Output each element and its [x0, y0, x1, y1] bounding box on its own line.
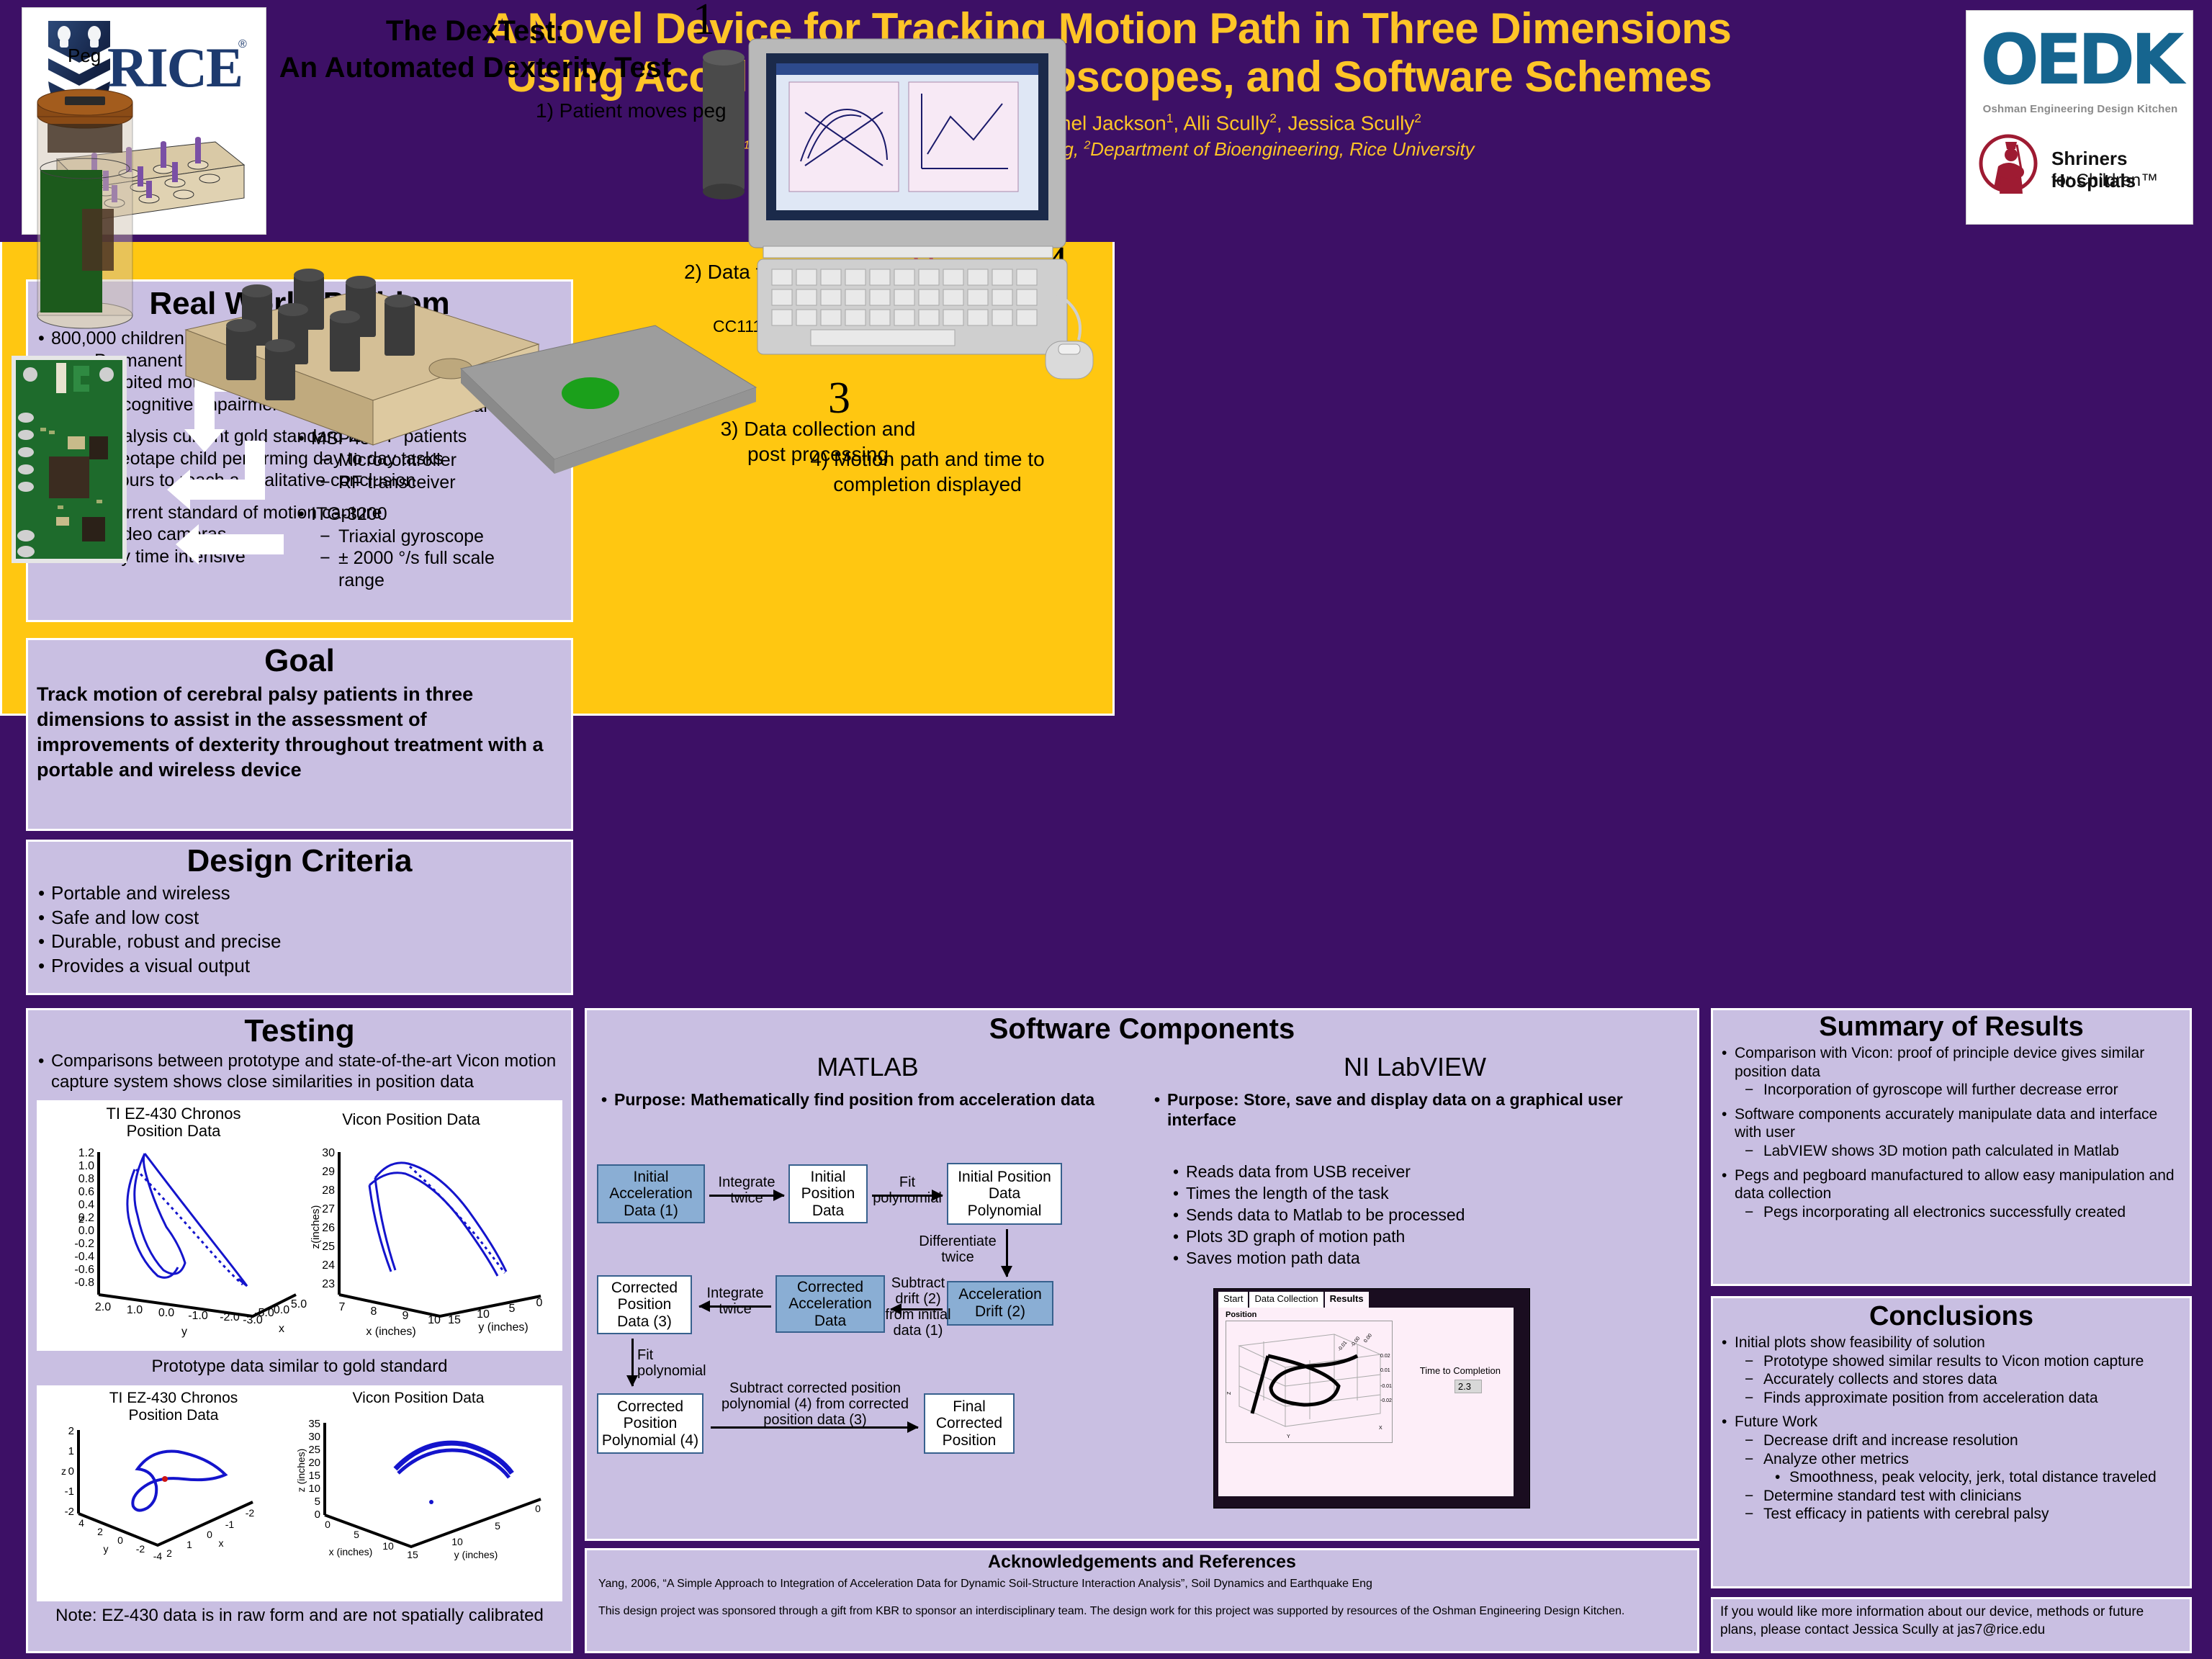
- flow-box-acceleration-drift: Acceleration Drift (2): [947, 1281, 1053, 1326]
- svg-text:x: x: [279, 1323, 284, 1335]
- contact-text: If you would like more information about…: [1713, 1599, 2190, 1639]
- svg-text:x (inches): x (inches): [366, 1326, 415, 1338]
- list-item: Prototype showed similar results to Vico…: [1742, 1352, 2184, 1371]
- dextest-title: The DexTest: An Automated Dexterity Test: [238, 13, 713, 86]
- section-title-software: Software Components: [587, 1010, 1697, 1046]
- svg-text:1.0: 1.0: [127, 1304, 143, 1316]
- list-item: Plots 3D graph of motion path: [1169, 1226, 1673, 1246]
- svg-text:-5.0: -5.0: [254, 1307, 274, 1319]
- panel-acknowledgements: Acknowledgements and References Yang, 20…: [585, 1548, 1699, 1653]
- svg-text:28: 28: [322, 1184, 335, 1197]
- flow-box-final-corrected-position: Final Corrected Position: [924, 1393, 1015, 1454]
- oedk-subtitle: Oshman Engineering Design Kitchen: [1966, 103, 2193, 115]
- acknowledgements-reference: Yang, 2006, “A Simple Approach to Integr…: [587, 1573, 1697, 1591]
- svg-text:-1.0: -1.0: [188, 1310, 208, 1322]
- acknowledgements-funding: This design project was sponsored throug…: [587, 1591, 1697, 1619]
- svg-text:0.01: 0.01: [1380, 1368, 1390, 1373]
- svg-text:4: 4: [78, 1517, 84, 1529]
- svg-text:0: 0: [315, 1509, 320, 1521]
- list-item: Pegs and pegboard manufactured to allow …: [1717, 1166, 2184, 1222]
- list-item: Initial plots show feasibility of soluti…: [1717, 1334, 2184, 1407]
- section-title-goal: Goal: [28, 640, 571, 679]
- chart-title-1: TI EZ-430 Chronos: [106, 1105, 240, 1123]
- flow-label-integrate-2: Integrate twice: [695, 1285, 775, 1317]
- svg-text:2: 2: [166, 1547, 172, 1559]
- list-item: Pegs incorporating all electronics succe…: [1742, 1203, 2184, 1222]
- svg-text:-0.4: -0.4: [74, 1251, 94, 1263]
- mousepad-illustration: [454, 318, 763, 484]
- labview-screenshot: Start Data Collection Results Position: [1213, 1288, 1530, 1509]
- svg-text:TI EZ-430 Chronos: TI EZ-430 Chronos: [109, 1390, 238, 1406]
- svg-text:-2: -2: [246, 1507, 255, 1519]
- list-item: Sends data to Matlab to be processed: [1169, 1205, 1673, 1225]
- svg-text:-0.02: -0.02: [1380, 1398, 1392, 1403]
- svg-text:15: 15: [308, 1470, 320, 1482]
- design-criteria-body: Portable and wireless Safe and low cost …: [28, 879, 571, 978]
- pcb-illustration: [12, 356, 127, 563]
- testing-caption: Prototype data similar to gold standard: [28, 1351, 571, 1381]
- testing-note: Note: EZ-430 data is in raw form and are…: [28, 1601, 571, 1626]
- svg-text:24: 24: [322, 1259, 335, 1272]
- list-item: LabVIEW shows 3D motion path calculated …: [1742, 1142, 2184, 1161]
- chart-series-4: [395, 1443, 512, 1473]
- chart-title-2: Vicon Position Data: [342, 1110, 480, 1128]
- section-title-design-criteria: Design Criteria: [28, 842, 571, 879]
- svg-text:-4: -4: [153, 1550, 163, 1562]
- step-number-1: 1: [693, 0, 715, 45]
- svg-text:30: 30: [322, 1147, 335, 1159]
- flow-box-corrected-position-data: Corrected Position Data (3): [597, 1275, 692, 1334]
- svg-text:0: 0: [325, 1519, 331, 1530]
- svg-text:z(inches): z(inches): [310, 1205, 322, 1249]
- list-item: ± 2000 °/s full scale range: [317, 547, 531, 591]
- svg-text:2: 2: [97, 1526, 103, 1537]
- svg-text:y (inches): y (inches): [478, 1321, 528, 1334]
- flow-label-subtract-drift: Subtract drift (2) from initial data (1): [885, 1275, 951, 1339]
- dextest-title-line1: The DexTest:: [238, 13, 713, 50]
- svg-text:y (inches): y (inches): [454, 1549, 498, 1560]
- software-subtitle-labview: NI LabVIEW: [1148, 1052, 1681, 1082]
- list-item: Incorporation of gyroscope will further …: [1742, 1081, 2184, 1100]
- svg-text:1.2: 1.2: [78, 1147, 94, 1159]
- svg-text:Position Data: Position Data: [129, 1407, 219, 1424]
- list-item: Determine standard test with clinicians: [1742, 1487, 2184, 1506]
- svg-text:0: 0: [207, 1529, 212, 1540]
- svg-text:Vicon Position Data: Vicon Position Data: [353, 1390, 485, 1406]
- svg-text:-0.01: -0.01: [1337, 1340, 1348, 1352]
- svg-text:0.4: 0.4: [78, 1199, 94, 1211]
- list-item: Software components accurately manipulat…: [1717, 1105, 2184, 1161]
- svg-text:-2: -2: [65, 1506, 74, 1518]
- goal-text: Track motion of cerebral palsy patients …: [28, 679, 571, 783]
- svg-text:29: 29: [322, 1166, 335, 1178]
- tab-results[interactable]: Results: [1325, 1292, 1369, 1308]
- svg-text:X: X: [1379, 1426, 1382, 1431]
- svg-text:9: 9: [403, 1310, 409, 1322]
- panel-software-components: Software Components MATLAB NI LabVIEW Pu…: [585, 1008, 1699, 1541]
- list-item: Portable and wireless: [34, 882, 564, 905]
- svg-text:Z: Z: [1227, 1391, 1232, 1395]
- section-title-acknowledgements: Acknowledgements and References: [587, 1550, 1697, 1573]
- svg-text:-0.01: -0.01: [1380, 1384, 1392, 1389]
- shriners-subtitle: for Children™: [2051, 171, 2158, 191]
- bullet-text: Future Work: [1735, 1413, 1817, 1430]
- dextest-title-line2: An Automated Dexterity Test: [238, 50, 713, 86]
- bullet-text: Analyze other metrics: [1763, 1451, 1909, 1467]
- svg-text:0: 0: [536, 1297, 543, 1309]
- svg-text:15: 15: [448, 1314, 461, 1326]
- svg-text:Position Data: Position Data: [127, 1122, 222, 1140]
- panel-summary-of-results: Summary of Results Comparison with Vicon…: [1711, 1008, 2192, 1286]
- svg-text:7: 7: [339, 1301, 346, 1313]
- shriners-emblem-icon: [1977, 132, 2043, 201]
- mouse-icon: [1046, 341, 1093, 379]
- svg-text:27: 27: [322, 1203, 335, 1215]
- list-item: Purpose: Mathematically find position fr…: [597, 1089, 1130, 1110]
- svg-text:-1: -1: [65, 1485, 74, 1498]
- labview-results-pane: Position -0.01: [1218, 1308, 1514, 1496]
- svg-text:y: y: [104, 1543, 109, 1555]
- peg-label: Peg: [68, 45, 101, 67]
- labview-tabs[interactable]: Start Data Collection Results: [1218, 1292, 1369, 1308]
- svg-text:-0.6: -0.6: [74, 1264, 94, 1276]
- svg-text:5: 5: [509, 1303, 516, 1315]
- chart-pair-top: TI EZ-430 Chronos Position Data Vicon Po…: [37, 1100, 562, 1351]
- list-item: Reads data from USB receiver: [1169, 1161, 1673, 1182]
- svg-text:15: 15: [407, 1549, 418, 1560]
- svg-text:0.0: 0.0: [78, 1225, 94, 1237]
- list-item: Purpose: Store, save and display data on…: [1150, 1089, 1676, 1130]
- chart-series-3: [132, 1451, 225, 1510]
- list-item: Safe and low cost: [34, 907, 564, 930]
- list-item: Finds approximate position from accelera…: [1742, 1389, 2184, 1408]
- list-item: Test efficacy in patients with cerebral …: [1742, 1505, 2184, 1524]
- peg-illustration: [16, 78, 154, 338]
- svg-text:2: 2: [68, 1425, 74, 1437]
- laptop-illustration: [720, 32, 1109, 392]
- tab-data-collection[interactable]: Data Collection: [1249, 1292, 1323, 1308]
- labview-time-label: Time to Completion: [1420, 1365, 1501, 1376]
- affiliation-line: 1Department of Mechanical Engineering, 2…: [281, 138, 1937, 161]
- svg-text:0: 0: [535, 1503, 541, 1514]
- software-subtitle-matlab: MATLAB: [601, 1052, 1134, 1082]
- list-item: Future Work Decrease drift and increase …: [1717, 1413, 2184, 1524]
- section-title-conclusions: Conclusions: [1713, 1298, 2190, 1332]
- labview-purpose-wrap: Purpose: Store, save and display data on…: [1150, 1089, 1676, 1131]
- svg-text:0: 0: [117, 1534, 123, 1546]
- section-title-testing: Testing: [28, 1010, 571, 1049]
- list-item: Smoothness, peak velocity, jerk, total d…: [1772, 1468, 2184, 1487]
- flow-label-differentiate: Differentiate twice: [912, 1233, 1003, 1265]
- svg-text:35: 35: [308, 1418, 320, 1430]
- list-item: Comparison with Vicon: proof of principl…: [1717, 1044, 2184, 1100]
- list-item: Analyze other metrics Smoothness, peak v…: [1742, 1450, 2184, 1487]
- svg-text:20: 20: [308, 1457, 320, 1469]
- flow-label-fit-2: Fit polynomial: [637, 1347, 724, 1379]
- svg-text:25: 25: [308, 1444, 320, 1456]
- bullet-text: Comparison with Vicon: proof of principl…: [1735, 1045, 2144, 1080]
- section-title-summary: Summary of Results: [1713, 1010, 2190, 1043]
- panel-conclusions: Conclusions Initial plots show feasibili…: [1711, 1296, 2192, 1588]
- step-text-4: 4) Motion path and time to completion di…: [805, 446, 1050, 497]
- svg-text:5.0: 5.0: [291, 1298, 307, 1310]
- list-item: Saves motion path data: [1169, 1248, 1673, 1268]
- sponsor-logo-box: OEDK Oshman Engineering Design Kitchen S…: [1966, 10, 2193, 225]
- svg-text:z (inches): z (inches): [295, 1448, 307, 1492]
- svg-text:10: 10: [451, 1536, 463, 1547]
- list-item: Accurately collects and stores data: [1742, 1370, 2184, 1389]
- svg-text:8: 8: [371, 1305, 377, 1318]
- panel-contact: If you would like more information about…: [1711, 1597, 2192, 1653]
- bullet-text: Software components accurately manipulat…: [1735, 1106, 2157, 1141]
- svg-text:-2.0: -2.0: [220, 1311, 240, 1323]
- svg-text:25: 25: [322, 1241, 335, 1253]
- flow-arrow-3: [1006, 1229, 1008, 1277]
- labview-feature-list: Reads data from USB receiver Times the l…: [1169, 1161, 1673, 1269]
- panel-goal: Goal Track motion of cerebral palsy pati…: [26, 638, 573, 831]
- svg-text:z: z: [61, 1465, 66, 1477]
- panel-testing: Testing Comparisons between prototype an…: [26, 1008, 573, 1653]
- matlab-purpose-wrap: Purpose: Mathematically find position fr…: [597, 1089, 1130, 1111]
- chart-pair-bottom: TI EZ-430 Chronos Position Data Vicon Po…: [37, 1385, 562, 1601]
- svg-text:x (inches): x (inches): [329, 1546, 373, 1557]
- poster-root: RICE ®: [0, 0, 2212, 1659]
- svg-text:Y: Y: [1287, 1434, 1290, 1439]
- flow-label-fit-1: Fit polynomial: [868, 1174, 947, 1206]
- labview-3d-plot: -0.01 -0.00 0.00 0.020.01 -0.01-0.02 Z Y…: [1226, 1321, 1393, 1443]
- list-item: Decrease drift and increase resolution: [1742, 1431, 2184, 1450]
- bullet-text: Initial plots show feasibility of soluti…: [1735, 1334, 1985, 1351]
- list-item: Triaxial gyroscope: [317, 526, 531, 548]
- svg-text:10: 10: [382, 1540, 394, 1552]
- svg-text:0.8: 0.8: [78, 1173, 94, 1185]
- spec-name: ITG-3200: [311, 504, 387, 524]
- conclusions-body: Initial plots show feasibility of soluti…: [1713, 1332, 2190, 1524]
- svg-text:0.00: 0.00: [1363, 1333, 1373, 1344]
- svg-text:0.6: 0.6: [78, 1186, 94, 1198]
- testing-bullet-wrap: Comparisons between prototype and state-…: [28, 1049, 571, 1093]
- svg-text:0.02: 0.02: [1380, 1354, 1390, 1359]
- summary-body: Comparison with Vicon: proof of principl…: [1713, 1043, 2190, 1221]
- svg-text:z: z: [78, 1213, 84, 1226]
- svg-text:5: 5: [315, 1496, 320, 1508]
- svg-text:x: x: [219, 1537, 224, 1549]
- list-item: Provides a visual output: [34, 955, 564, 978]
- shriners-logo: Shriners Hospitals for Children™: [1977, 132, 2185, 211]
- bullet-text: Pegs and pegboard manufactured to allow …: [1735, 1167, 2175, 1202]
- svg-text:10: 10: [308, 1483, 320, 1495]
- list-item: Times the length of the task: [1169, 1183, 1673, 1203]
- tab-start[interactable]: Start: [1218, 1292, 1248, 1308]
- svg-text:y: y: [181, 1326, 187, 1338]
- flow-box-initial-acceleration: Initial Acceleration Data (1): [597, 1164, 705, 1223]
- labview-time-value: 2.3: [1455, 1380, 1482, 1393]
- author-list: Avery Cate1, Dillon Eng1, Rachel Jackson…: [281, 111, 1937, 135]
- flow-label-integrate-1: Integrate twice: [705, 1174, 788, 1206]
- list-item: ITG-3200 Triaxial gyroscope ± 2000 °/s f…: [294, 503, 531, 591]
- flow-box-initial-position-polynomial: Initial Position Data Polynomial: [947, 1163, 1062, 1225]
- list-item: Durable, robust and precise: [34, 930, 564, 953]
- svg-text:-1: -1: [225, 1519, 235, 1530]
- svg-text:0: 0: [68, 1465, 74, 1478]
- labview-plot-label: Position: [1226, 1310, 1256, 1319]
- oedk-wordmark: OEDK: [1971, 19, 2190, 100]
- svg-text:10: 10: [428, 1314, 441, 1326]
- svg-text:-0.2: -0.2: [74, 1238, 94, 1250]
- step-text-1: 1) Patient moves peg: [536, 98, 727, 123]
- svg-text:-0.8: -0.8: [74, 1277, 94, 1289]
- svg-text:1: 1: [68, 1445, 74, 1457]
- flow-box-initial-position: Initial Position Data: [788, 1164, 868, 1223]
- svg-text:10: 10: [477, 1308, 490, 1321]
- chart-top-svg: TI EZ-430 Chronos Position Data Vicon Po…: [37, 1100, 561, 1351]
- flow-box-corrected-acceleration: Corrected Acceleration Data: [775, 1275, 885, 1333]
- svg-text:5: 5: [354, 1529, 359, 1540]
- flow-box-corrected-position-polynomial: Corrected Position Polynomial (4): [597, 1393, 703, 1454]
- flow-arrow-6: [631, 1339, 634, 1386]
- svg-text:1: 1: [186, 1539, 192, 1550]
- svg-text:0.0: 0.0: [158, 1307, 174, 1319]
- svg-text:-2: -2: [136, 1543, 145, 1555]
- svg-text:26: 26: [322, 1222, 335, 1234]
- svg-text:5: 5: [495, 1520, 500, 1532]
- svg-text:30: 30: [308, 1431, 320, 1443]
- flow-label-subtract-corrected: Subtract corrected position polynomial (…: [714, 1380, 917, 1428]
- svg-text:-0.00: -0.00: [1350, 1336, 1361, 1348]
- svg-text:0.0: 0.0: [274, 1304, 289, 1316]
- svg-text:2.0: 2.0: [95, 1301, 111, 1313]
- list-item: Comparisons between prototype and state-…: [34, 1051, 564, 1093]
- panel-design-criteria: Design Criteria Portable and wireless Sa…: [26, 840, 573, 995]
- chart-bottom-svg: TI EZ-430 Chronos Position Data Vicon Po…: [37, 1385, 561, 1601]
- svg-text:1.0: 1.0: [78, 1160, 94, 1172]
- svg-text:23: 23: [322, 1278, 335, 1290]
